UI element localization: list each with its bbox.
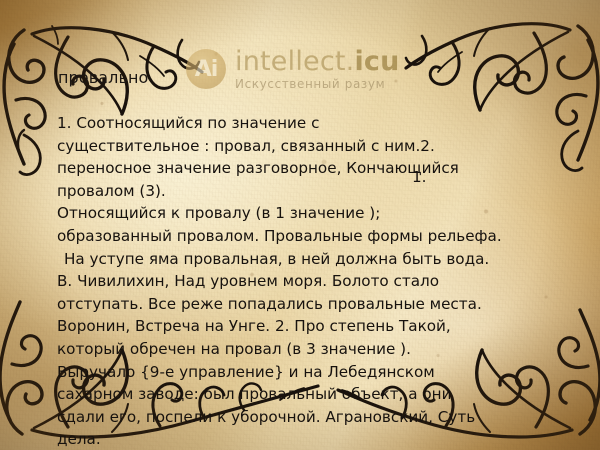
watermark-title-accent: icu xyxy=(354,46,399,77)
definition-line: который обречен на провал (в 3 значение … xyxy=(57,338,562,361)
headword: провально xyxy=(58,68,148,87)
definition-line: Относящийся к провалу (в 1 значение ); xyxy=(57,202,562,225)
watermark: Ai intellect.icu Искусственный разум xyxy=(186,48,400,90)
definition-line: сахарном заводе: был провальный объект, … xyxy=(57,383,562,406)
watermark-text: intellect.icu Искусственный разум xyxy=(235,48,400,90)
definition-line: В. Чивилихин, Над уровнем моря. Болото с… xyxy=(57,270,562,293)
definition-line: отступать. Все реже попадались провальны… xyxy=(57,293,562,316)
definition-line: существительное : провал, связанный с ни… xyxy=(57,135,562,158)
watermark-title: intellect.icu xyxy=(235,48,400,75)
dictionary-slide: Ai intellect.icu Искусственный разум про… xyxy=(0,0,600,450)
page-number: 1. xyxy=(412,168,427,186)
definition-line: дела. xyxy=(57,428,562,450)
definition-line: переносное значение разговорное, Кончающ… xyxy=(57,157,562,180)
definition-text: 1. Соотносящийся по значение с существит… xyxy=(57,112,562,450)
watermark-logo-icon: Ai xyxy=(186,49,226,89)
definition-line: На уступе яма провальная, в ней должна б… xyxy=(57,248,562,271)
definition-line: 1. Соотносящийся по значение с xyxy=(57,112,562,135)
watermark-title-main: intellect. xyxy=(235,46,354,77)
definition-line: провалом (3). xyxy=(57,180,562,203)
watermark-subtitle: Искусственный разум xyxy=(235,78,400,90)
definition-line: сдали его, поспели к уборочной. Аграновс… xyxy=(57,406,562,429)
definition-line: образованный провалом. Провальные формы … xyxy=(57,225,562,248)
definition-line: Воронин, Встреча на Унге. 2. Про степень… xyxy=(57,315,562,338)
definition-line: Выручало {9-е управление} и на Лебедянск… xyxy=(57,361,562,384)
